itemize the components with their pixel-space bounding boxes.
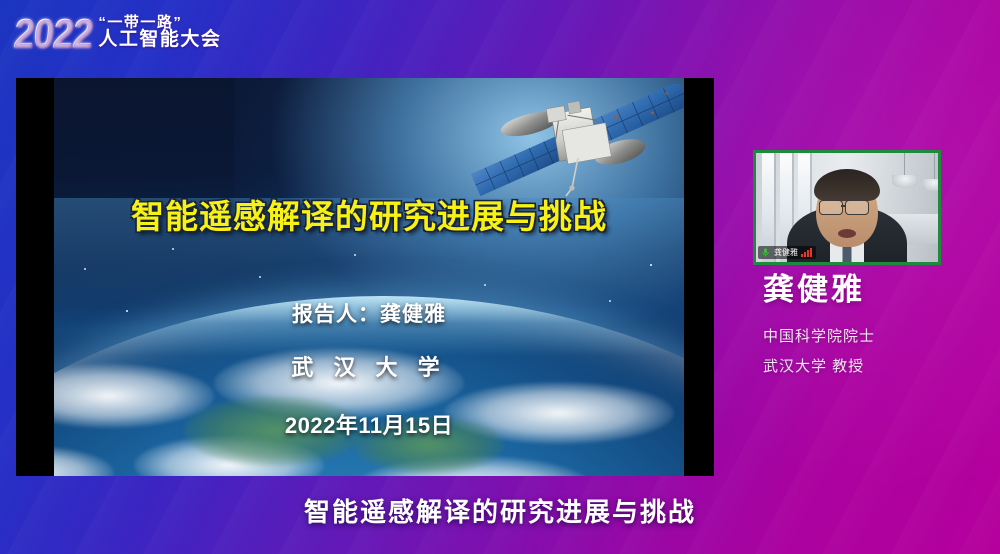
speaker-name: 龚健雅 (763, 272, 983, 308)
slide-canvas: 智能遥感解译的研究进展与挑战 报告人：龚健雅 武 汉 大 学 2022年11月1… (54, 78, 684, 476)
video-nametag-overlay: 龚健雅 (758, 246, 816, 259)
logo-chinese-text: “一带一路” 人工智能大会 (98, 15, 221, 51)
speaker-video-feed: 龚健雅 (756, 153, 938, 262)
slide-affiliation-line: 武 汉 大 学 (54, 350, 684, 382)
slide-date-line: 2022年11月15日 (54, 408, 684, 440)
lamp-cord (934, 153, 935, 179)
slide-presenter-line: 报告人：龚健雅 (54, 298, 684, 328)
microphone-icon (760, 247, 771, 258)
lamp-cord (904, 153, 905, 175)
speaker-video-tile[interactable]: 龚健雅 (753, 150, 941, 265)
pendant-lamp (892, 175, 918, 188)
slide-title: 智能遥感解译的研究进展与挑战 (54, 190, 684, 238)
pendant-lamp (922, 179, 938, 191)
star (84, 268, 86, 270)
speaker-title-secondary: 武汉大学 教授 (763, 359, 983, 376)
lower-third-caption: 智能遥感解译的研究进展与挑战 (0, 492, 1000, 529)
video-nametag-label: 龚健雅 (774, 249, 798, 257)
broadcast-stage: 2022 “一带一路” 人工智能大会 (0, 0, 1000, 554)
signal-strength-icon (801, 248, 812, 257)
eyeglass-lens-left (819, 200, 843, 215)
logo-event-name-line: 人工智能大会 (98, 30, 221, 50)
speaker-mouth (838, 229, 856, 238)
star (172, 248, 174, 250)
presentation-slide: 智能遥感解译的研究进展与挑战 报告人：龚健雅 武 汉 大 学 2022年11月1… (16, 78, 714, 476)
logo-year-text: 2022 (12, 12, 95, 53)
speaker-hair (814, 169, 880, 201)
conference-logo: 2022 “一带一路” 人工智能大会 (14, 6, 221, 60)
cloud (54, 446, 114, 476)
eyeglass-lens-right (845, 200, 869, 215)
star (650, 264, 652, 266)
eyeglass-bridge (841, 205, 846, 207)
star (354, 254, 356, 256)
star (484, 284, 486, 286)
speaker-title-primary: 中国科学院院士 (763, 329, 983, 346)
satellite-icon (452, 84, 684, 202)
speaker-info-block: 龚健雅 中国科学院院士 武汉大学 教授 (763, 272, 983, 376)
star (259, 276, 261, 278)
